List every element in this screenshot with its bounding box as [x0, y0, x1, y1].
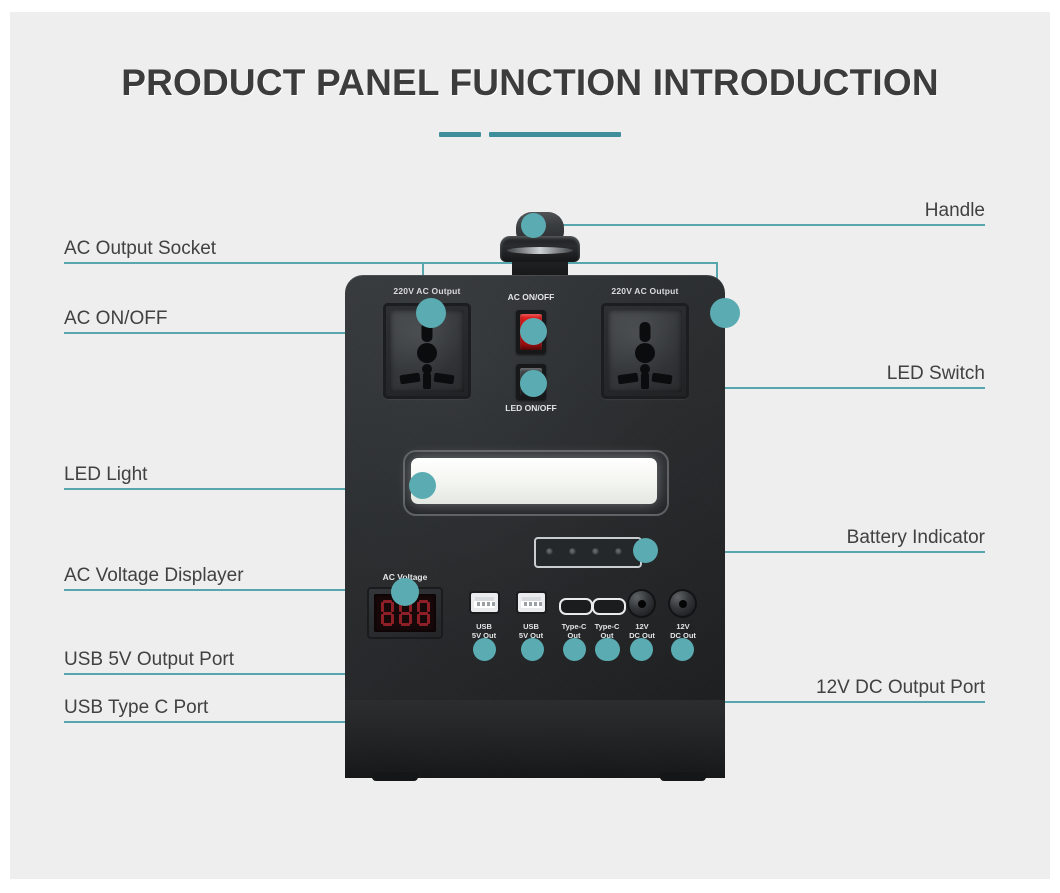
port-label-line1: 12V [619, 622, 665, 631]
battery-led-3 [592, 548, 599, 555]
label-ac-voltage-displayer[interactable]: AC Voltage Displayer [64, 566, 244, 585]
callout-dot-dc-3 [671, 638, 694, 661]
usb-a-port-2[interactable] [518, 593, 545, 612]
callout-dot-ac-switch [520, 318, 547, 345]
leader-ac-output-socket-h [64, 262, 423, 264]
callout-dot-typec-1 [563, 638, 586, 661]
frame-gutter-left [0, 0, 10, 893]
battery-led-1 [546, 548, 553, 555]
ac-socket-right-label: 220V AC Output [601, 286, 689, 296]
socket-ground-pin-slot [640, 322, 651, 342]
callout-dot-usb-1 [473, 638, 496, 661]
callout-dot-battery [633, 538, 658, 563]
device-lower-body [345, 700, 725, 778]
callout-dot-ac-socket-left [416, 298, 446, 328]
device-foot-left [372, 772, 418, 781]
frame-gutter-right [1050, 0, 1060, 893]
ac-switch-label: AC ON/OFF [497, 292, 565, 302]
title-rule [0, 126, 1060, 144]
callout-dot-dc-2 [630, 638, 653, 661]
leader-handle-h [540, 224, 985, 226]
callout-dot-led-light [409, 472, 436, 499]
battery-indicator-housing[interactable] [534, 537, 642, 568]
usb-a-port-1[interactable] [471, 593, 498, 612]
led-light-panel[interactable] [411, 458, 657, 504]
port-label-line1: USB [461, 622, 507, 631]
callout-dot-led-switch [520, 370, 547, 397]
handle-highlight [507, 247, 573, 254]
label-led-switch[interactable]: LED Switch [642, 364, 985, 383]
led-switch-label: LED ON/OFF [495, 403, 567, 413]
label-usb-type-c-port[interactable]: USB Type C Port [64, 698, 208, 717]
page-title: PRODUCT PANEL FUNCTION INTRODUCTION [0, 62, 1060, 104]
socket-round-slot [417, 343, 437, 363]
dc-output-jack-1[interactable] [627, 589, 656, 618]
socket-round-slot [635, 343, 655, 363]
product-diagram-canvas: PRODUCT PANEL FUNCTION INTRODUCTION 220V… [0, 0, 1060, 893]
label-dc-output-port[interactable]: 12V DC Output Port [642, 678, 985, 697]
port-label-line1: 12V [660, 622, 706, 631]
label-ac-output-socket[interactable]: AC Output Socket [64, 239, 216, 258]
socket-center-slot [423, 373, 431, 389]
dc-output-jack-2[interactable] [668, 589, 697, 618]
type-c-port-2[interactable] [592, 598, 626, 615]
label-handle[interactable]: Handle [642, 201, 985, 220]
voltage-digit-3 [416, 600, 431, 626]
callout-dot-ac-socket-right [710, 298, 740, 328]
port-label-line1: USB [508, 622, 554, 631]
frame-gutter-top [0, 0, 1060, 12]
voltage-digit-1 [380, 600, 395, 626]
leader-ac-output-socket-h-top [422, 262, 717, 264]
title-rule-long [489, 132, 621, 137]
ac-socket-left-label: 220V AC Output [383, 286, 471, 296]
ac-output-socket-right[interactable]: 220V AC Output [601, 303, 689, 399]
label-battery-indicator[interactable]: Battery Indicator [642, 528, 985, 547]
label-usb-5v-output-port[interactable]: USB 5V Output Port [64, 650, 234, 669]
socket-flat-slot-right [433, 373, 454, 385]
socket-flat-slot-left [399, 373, 420, 385]
label-ac-on-off[interactable]: AC ON/OFF [64, 309, 167, 328]
callout-dot-voltage [391, 578, 419, 606]
callout-dot-handle [521, 213, 546, 238]
callout-dot-usb-2 [521, 638, 544, 661]
device-foot-right [660, 772, 706, 781]
battery-led-2 [569, 548, 576, 555]
socket-flat-slot-left [617, 373, 638, 385]
type-c-port-1[interactable] [559, 598, 593, 615]
title-rule-short [439, 132, 481, 137]
label-led-light[interactable]: LED Light [64, 465, 147, 484]
callout-dot-dc-1 [597, 638, 620, 661]
frame-gutter-bottom [0, 879, 1060, 893]
battery-led-4 [615, 548, 622, 555]
